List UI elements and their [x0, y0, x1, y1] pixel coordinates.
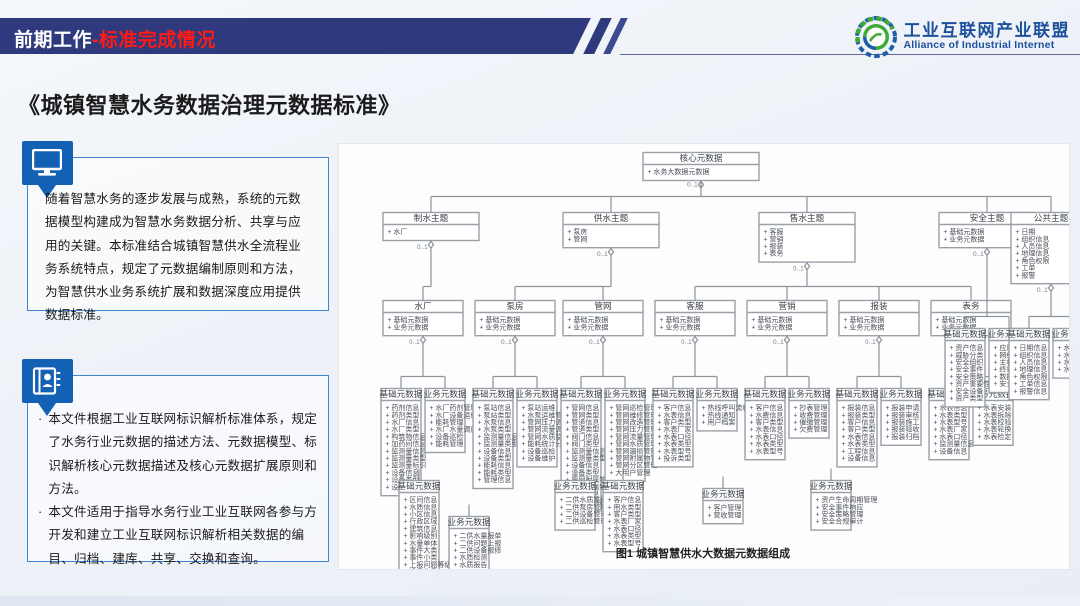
svg-text:+ 报装审核: + 报装审核 — [885, 410, 919, 419]
svg-text:+ 安全事件: + 安全事件 — [949, 365, 983, 374]
svg-text:+ 水厂类型: + 水厂类型 — [385, 425, 419, 434]
svg-text:+ 管网压力管理: + 管网压力管理 — [609, 425, 657, 434]
svg-text:+ 报警: + 报警 — [1015, 270, 1035, 279]
list-item: · 本文件根据工业互联网标识解析标准体系，规定了水务行业元数据的描述方法、元数据… — [38, 408, 320, 501]
svg-text:+ 人员信息: + 人员信息 — [1015, 242, 1049, 251]
svg-text:+ 能耗管理: + 能耗管理 — [429, 439, 463, 448]
svg-text:+ 安全事件响应: + 安全事件响应 — [815, 502, 863, 511]
svg-text:+ 水表类型: + 水表类型 — [657, 439, 691, 448]
svg-text:基础元数据: 基础元数据 — [602, 480, 645, 491]
svg-text:泵房: 泵房 — [506, 300, 523, 311]
gear-logo-icon — [855, 16, 897, 58]
svg-text:+ 水表信息: + 水表信息 — [749, 425, 783, 434]
svg-text:0..1: 0..1 — [793, 266, 804, 273]
svg-text:+ 营销: + 营销 — [763, 234, 783, 243]
svg-text:业务元数据: 业务元数据 — [880, 388, 923, 399]
svg-text:+ 建筑信息: + 建筑信息 — [403, 524, 437, 533]
svg-text:+ 资产类型: + 资产类型 — [949, 394, 983, 403]
svg-text:0..1: 0..1 — [973, 251, 984, 258]
svg-text:+ 客户信息: + 客户信息 — [607, 495, 641, 504]
svg-text:+ 客户类型: + 客户类型 — [657, 418, 691, 427]
svg-text:+ 基础元数据: + 基础元数据 — [751, 315, 792, 324]
logo-text-block: 工业互联网产业联盟 Alliance of Industrial Interne… — [904, 22, 1071, 53]
svg-text:+ 水表型号: + 水表型号 — [749, 446, 783, 455]
svg-text:业务元数据: 业务元数据 — [448, 516, 491, 527]
svg-text:水厂: 水厂 — [414, 300, 432, 311]
svg-text:+ 基础元数据: + 基础元数据 — [843, 315, 884, 324]
svg-text:+ 角色权限: + 角色权限 — [1015, 256, 1049, 265]
svg-text:+ 管网维修管理: + 管网维修管理 — [609, 410, 657, 419]
svg-text:+ 业务元数据: + 业务元数据 — [843, 322, 884, 331]
svg-text:+ 水表口径: + 水表口径 — [607, 524, 641, 533]
svg-text:+ 水表类型: + 水表类型 — [841, 439, 875, 448]
svg-text:+ 客户信息: + 客户信息 — [657, 403, 691, 412]
header-title: 前期工作-标准完成情况 — [14, 25, 216, 52]
logo-text-en: Alliance of Industrial Internet — [904, 39, 1071, 53]
svg-text:0..1: 0..1 — [687, 182, 698, 189]
svg-text:+ 水表检定: + 水表检定 — [977, 432, 1011, 441]
svg-text:+ 基础元数据: + 基础元数据 — [479, 315, 520, 324]
svg-text:基础元数据: 基础元数据 — [560, 388, 603, 399]
svg-text:+ 用水类型: + 用水类型 — [607, 502, 641, 511]
svg-text:基础元数据: 基础元数据 — [1008, 328, 1051, 339]
svg-text:+ 水费信息: + 水费信息 — [749, 410, 783, 419]
svg-text:+ 设备信息: + 设备信息 — [933, 446, 967, 455]
diagram-subject-0: 制水主题+ 水厂 — [383, 212, 479, 240]
svg-text:安全主题: 安全主题 — [970, 212, 1005, 223]
diagram-entity-3: 客服+ 基础元数据+ 业务元数据 — [655, 300, 735, 336]
svg-text:0..1: 0..1 — [1037, 287, 1048, 294]
svg-text:+ 安全策略: + 安全策略 — [949, 372, 983, 381]
svg-text:+ 业务元数据: + 业务元数据 — [387, 322, 428, 331]
svg-text:+ 监测量类型: + 监测量类型 — [477, 439, 518, 448]
svg-text:+ 水务人员管理: + 水务人员管理 — [1057, 350, 1069, 359]
header-title-separator: - — [92, 30, 99, 51]
svg-text:+ 地理信息: + 地理信息 — [1013, 365, 1047, 374]
diagram-entity-2: 管网+ 基础元数据+ 业务元数据 — [563, 300, 643, 336]
monitor-icon — [22, 141, 73, 185]
svg-text:+ 管网信息: + 管网信息 — [565, 403, 599, 412]
diagram-deep-leaf-1: 业务元数据+ 二供水量报单+ 二供问题上报+ 二供设备报修+ 水质检测+ 水质报… — [448, 516, 502, 569]
svg-text:+ 营收管理: + 营收管理 — [707, 510, 741, 519]
svg-text:+ 水表口径: + 水表口径 — [749, 432, 783, 441]
figure-caption: 图1 城镇智慧供水大数据元数据组成 — [338, 545, 1068, 561]
svg-text:业务元数据: 业务元数据 — [516, 388, 559, 399]
svg-text:+ 水表厂家: + 水表厂家 — [607, 517, 641, 526]
svg-text:0..1: 0..1 — [597, 251, 608, 258]
svg-text:+ 管网: + 管网 — [567, 234, 587, 243]
svg-text:表务: 表务 — [962, 300, 980, 311]
svg-text:+ 上报问题等级: + 上报问题等级 — [403, 560, 451, 569]
svg-text:+ 水表型号: + 水表型号 — [933, 418, 967, 427]
svg-text:+ 安全设备: + 安全设备 — [949, 386, 983, 395]
svg-text:+ 水表信息: + 水表信息 — [841, 432, 875, 441]
callout-scope-text: · 本文件根据工业互联网标识解析标准体系，规定了水务行业元数据的描述方法、元数据… — [38, 408, 320, 571]
svg-text:+ 客服: + 客服 — [763, 227, 783, 236]
svg-text:+ 管网流量管理: + 管网流量管理 — [609, 432, 657, 441]
callout-paragraph: 本文件适用于指导水务行业工业互联网各参与方开发和建立工业互联网标识解析相关数据的… — [48, 501, 320, 571]
svg-text:业务元数据: 业务元数据 — [604, 388, 647, 399]
svg-text:+ 资产信息: + 资产信息 — [949, 343, 983, 352]
svg-text:+ 监测量信息: + 监测量信息 — [565, 446, 606, 455]
svg-text:+ 设备类型: + 设备类型 — [477, 454, 511, 463]
svg-text:+ 水表类型: + 水表类型 — [749, 439, 783, 448]
svg-text:客服: 客服 — [686, 300, 704, 311]
svg-text:+ 组织信息: + 组织信息 — [1015, 234, 1049, 243]
svg-text:+ 水厂水量调度: + 水厂水量调度 — [429, 425, 477, 434]
svg-text:0..1: 0..1 — [589, 339, 600, 346]
svg-text:+ 抄表管理: + 抄表管理 — [793, 403, 827, 412]
svg-text:基础元数据: 基础元数据 — [472, 388, 515, 399]
svg-text:+ 人员信息: + 人员信息 — [1013, 358, 1047, 367]
svg-text:+ 水表类型: + 水表类型 — [933, 410, 967, 419]
svg-text:+ 水表信息: + 水表信息 — [657, 410, 691, 419]
svg-text:+ 水泵类型: + 水泵类型 — [477, 425, 511, 434]
diagram-entity-0: 水厂+ 基础元数据+ 业务元数据 — [383, 300, 463, 336]
svg-text:+ 设备维护: + 设备维护 — [521, 454, 555, 463]
svg-text:+ 水表厂家: + 水表厂家 — [657, 425, 691, 434]
svg-text:+ 管网漏损管理: + 管网漏损管理 — [609, 446, 657, 455]
svg-text:+ 水务报警管理: + 水务报警管理 — [1057, 365, 1069, 374]
svg-text:+ 构筑物信息: + 构筑物信息 — [385, 432, 426, 441]
svg-text:+ 水质报告: + 水质报告 — [453, 560, 487, 569]
svg-text:+ 客户信息: + 客户信息 — [841, 418, 875, 427]
metadata-uml-diagram: 核心元数据+ 水务大数据元数据制水主题+ 水厂供水主题+ 泵房+ 管网售水主题+… — [339, 144, 1069, 569]
callout-paragraph: 随着智慧水务的逐步发展与成熟，系统的元数据模型构建成为智慧水务数据分析、共享与应… — [45, 188, 313, 328]
svg-text:+ 基础元数据: + 基础元数据 — [943, 227, 984, 236]
svg-text:+ 客户类型: + 客户类型 — [749, 418, 783, 427]
svg-text:+ 二供水质监测: + 二供水质监测 — [559, 495, 607, 504]
diagram-panel: 核心元数据+ 水务大数据元数据制水主题+ 水厂供水主题+ 泵房+ 管网售水主题+… — [338, 143, 1070, 570]
svg-text:+ 管网改造管理: + 管网改造管理 — [609, 418, 657, 427]
svg-text:+ 业务元数据: + 业务元数据 — [751, 322, 792, 331]
svg-text:+ 日期: + 日期 — [1015, 228, 1035, 236]
svg-text:+ 水厂信息: + 水厂信息 — [385, 418, 419, 427]
svg-text:+ 影响级别: + 影响级别 — [403, 531, 437, 540]
svg-text:+ 热线呼叫流程: + 热线呼叫流程 — [701, 403, 749, 412]
svg-text:0..1: 0..1 — [773, 339, 784, 346]
svg-text:基础元数据: 基础元数据 — [744, 388, 787, 399]
svg-text:+ 报警信息: + 报警信息 — [1013, 386, 1047, 395]
diagram-leaf-biz-5: 业务元数据+ 报装申请+ 报装审核+ 报装施工+ 报装验收+ 报装归档 — [880, 388, 923, 445]
svg-text:管网: 管网 — [594, 300, 611, 311]
svg-text:+ 水表厂家: + 水表厂家 — [933, 425, 967, 434]
svg-text:0..1: 0..1 — [417, 244, 428, 251]
diagram-leaf-base-5: 基础元数据+ 报装信息+ 报装类型+ 客户信息+ 客户类型+ 水表信息+ 水表类… — [836, 388, 879, 467]
svg-text:+ 水务公共服务: + 水务公共服务 — [1057, 343, 1069, 352]
svg-text:+ 二供设备管理: + 二供设备管理 — [559, 510, 607, 519]
svg-text:+ 监测量信息: + 监测量信息 — [385, 446, 426, 455]
header-title-highlight: 标准完成情况 — [99, 30, 216, 51]
svg-text:+ 水表型号: + 水表型号 — [657, 446, 691, 455]
svg-text:+ 管理信息: + 管理信息 — [477, 475, 511, 484]
svg-text:+ 威胁分类: + 威胁分类 — [949, 350, 983, 359]
svg-text:+ 设备巡检: + 设备巡检 — [521, 446, 555, 455]
svg-text:+ 报装验收: + 报装验收 — [885, 425, 919, 434]
diagram-leaf-biz-3: 业务元数据+ 热线呼叫流程+ 热线通知+ 用户档案 — [696, 388, 750, 431]
svg-text:+ 业务元数据: + 业务元数据 — [943, 234, 984, 243]
svg-text:售水主题: 售水主题 — [790, 212, 825, 223]
svg-text:公共主题: 公共主题 — [1034, 212, 1069, 223]
diagram-deep-leaf-4: 业务元数据+ 客户管理+ 营收管理 — [702, 488, 745, 524]
diagram-subject-2: 售水主题+ 客服+ 营销+ 报装+ 表务 — [759, 212, 855, 262]
svg-text:+ 基础元数据: + 基础元数据 — [659, 315, 700, 324]
svg-text:+ 工单: + 工单 — [1015, 263, 1035, 272]
svg-text:+ 催缴管理: + 催缴管理 — [793, 418, 827, 427]
svg-text:+ 设备信息: + 设备信息 — [477, 446, 511, 455]
svg-text:基础元数据: 基础元数据 — [398, 480, 441, 491]
svg-text:+ 安全组织: + 安全组织 — [949, 358, 983, 367]
svg-text:+ 泵站运维: + 泵站运维 — [521, 403, 555, 412]
svg-text:报装: 报装 — [870, 300, 888, 311]
svg-text:0..1: 0..1 — [865, 339, 876, 346]
diagram-deep-leaf-5: 业务元数据+ 资产生命周期管理+ 安全事件响应+ 安全策略管理+ 安全合规审计 — [810, 480, 878, 530]
diagram-leaf-base-3: 基础元数据+ 客户信息+ 水表信息+ 客户类型+ 水表厂家+ 水表口径+ 水表类… — [652, 388, 695, 467]
svg-text:0..1: 0..1 — [681, 339, 692, 346]
organization-logo: 工业互联网产业联盟 Alliance of Industrial Interne… — [855, 16, 1071, 58]
svg-text:+ 二供水量报单: + 二供水量报单 — [453, 531, 501, 540]
svg-text:+ 药剂信息: + 药剂信息 — [385, 403, 419, 412]
diagram-leaf-biz-4: 业务元数据+ 抄表管理+ 收费管理+ 催缴管理+ 欠费管理 — [788, 388, 831, 438]
svg-text:+ 设备信息: + 设备信息 — [565, 461, 599, 470]
svg-text:+ 管网分区管理: + 管网分区管理 — [609, 461, 657, 470]
diagram-root-node: 核心元数据+ 水务大数据元数据 — [643, 152, 759, 180]
svg-text:业务元数据: 业务元数据 — [424, 388, 467, 399]
svg-text:+ 热线通知: + 热线通知 — [701, 410, 735, 419]
svg-text:0..1: 0..1 — [501, 339, 512, 346]
svg-text:+ 监测量信息: + 监测量信息 — [933, 439, 974, 448]
svg-text:+ 水表类型: + 水表类型 — [607, 531, 641, 540]
svg-text:+ 安全合规审计: + 安全合规审计 — [815, 517, 863, 526]
svg-text:+ 报装申请: + 报装申请 — [885, 403, 919, 412]
svg-text:+ 水厂: + 水厂 — [387, 227, 407, 236]
callout-overview-text: 随着智慧水务的逐步发展与成熟，系统的元数据模型构建成为智慧水务数据分析、共享与应… — [45, 188, 313, 328]
svg-text:+ 设备信息: + 设备信息 — [385, 468, 419, 477]
svg-text:+ 用户档案: + 用户档案 — [701, 418, 735, 427]
svg-text:+ 安全策略管理: + 安全策略管理 — [815, 510, 863, 519]
svg-text:+ 工单信息: + 工单信息 — [1013, 379, 1047, 388]
svg-text:业务元数据: 业务元数据 — [810, 480, 853, 491]
svg-text:+ 报装信息: + 报装信息 — [841, 403, 875, 412]
svg-text:+ 组织信息: + 组织信息 — [1013, 350, 1047, 359]
svg-text:营销: 营销 — [778, 300, 796, 311]
diagram-entity-5: 报装+ 基础元数据+ 业务元数据 — [839, 300, 919, 336]
svg-text:+ 基础元数据: + 基础元数据 — [567, 315, 608, 324]
bullet-icon: · — [38, 501, 42, 524]
svg-text:+ 监测量信息: + 监测量信息 — [477, 432, 518, 441]
diagram-entity-1: 泵房+ 基础元数据+ 业务元数据 — [475, 300, 555, 336]
svg-text:+ 加药间信息: + 加药间信息 — [385, 439, 426, 448]
svg-text:+ 水厂药剂管理: + 水厂药剂管理 — [429, 403, 477, 412]
svg-text:+ 客户信息: + 客户信息 — [749, 403, 783, 412]
svg-text:+ 设备巡检: + 设备巡检 — [429, 432, 463, 441]
svg-text:+ 区间信息: + 区间信息 — [403, 495, 437, 504]
svg-text:+ 报装施工: + 报装施工 — [885, 418, 919, 427]
svg-text:+ 管道信息: + 管道信息 — [565, 418, 599, 427]
svg-text:+ 泵房: + 泵房 — [567, 227, 587, 236]
svg-text:+ 水表口径: + 水表口径 — [657, 432, 691, 441]
svg-text:+ 能耗管理: + 能耗管理 — [429, 418, 463, 427]
header-title-primary: 前期工作 — [14, 30, 92, 51]
diagram-subject-4: 公共主题+ 日期+ 组织信息+ 人员信息+ 地理信息+ 角色权限+ 工单+ 报警 — [1011, 212, 1069, 284]
bullet-icon: · — [38, 408, 42, 431]
svg-text:+ 水表校验: + 水表校验 — [977, 418, 1011, 427]
svg-text:+ 泵站类型: + 泵站类型 — [477, 410, 511, 419]
diagram-subject-1: 供水主题+ 泵房+ 管网 — [563, 212, 659, 248]
svg-text:+ 管网巡检管理: + 管网巡检管理 — [609, 403, 657, 412]
svg-text:核心元数据: 核心元数据 — [680, 152, 723, 163]
diagram-leaf-base-4: 基础元数据+ 客户信息+ 水费信息+ 客户类型+ 水表信息+ 水表口径+ 水表类… — [744, 388, 787, 460]
svg-text:+ 水厂设备运维: + 水厂设备运维 — [429, 410, 477, 419]
svg-text:+ 资产重要性: + 资产重要性 — [949, 379, 990, 388]
svg-text:基础元数据: 基础元数据 — [652, 388, 695, 399]
svg-text:制水主题: 制水主题 — [414, 212, 449, 223]
svg-text:+ 水表拆除: + 水表拆除 — [977, 410, 1011, 419]
svg-text:+ 水表轮换: + 水表轮换 — [977, 425, 1011, 434]
svg-text:+ 收费管理: + 收费管理 — [793, 410, 827, 419]
diagram-subject-leaf-base-1: 基础元数据+ 日期信息+ 组织信息+ 人员信息+ 地理信息+ 角色权限+ 工单信… — [1008, 328, 1051, 400]
svg-text:+ 水泵信息: + 水泵信息 — [477, 418, 511, 427]
svg-text:+ 水表口径: + 水表口径 — [933, 432, 967, 441]
svg-text:+ 监测量标识: + 监测量标识 — [385, 461, 426, 470]
svg-text:0..1: 0..1 — [409, 339, 420, 346]
svg-text:业务元数据: 业务元数据 — [554, 480, 597, 491]
callout-paragraph: 本文件根据工业互联网标识解析标准体系，规定了水务行业元数据的描述方法、元数据模型… — [48, 408, 320, 501]
svg-text:+ 能耗类型: + 能耗类型 — [477, 468, 511, 477]
svg-text:+ 小区信息: + 小区信息 — [403, 510, 437, 519]
svg-text:+ 阀门类型: + 阀门类型 — [565, 439, 599, 448]
svg-text:业务元数据: 业务元数据 — [696, 388, 739, 399]
svg-text:基础元数据: 基础元数据 — [944, 328, 987, 339]
svg-text:业务元数据: 业务元数据 — [788, 388, 831, 399]
svg-text:+ 二供泵房管理: + 二供泵房管理 — [559, 502, 607, 511]
svg-text:+ 行政区域: + 行政区域 — [403, 517, 437, 526]
svg-text:+ 地理信息: + 地理信息 — [1015, 249, 1049, 258]
diagram-deep-leaf-3: 基础元数据+ 客户信息+ 用水类型+ 客户类型+ 水表厂家+ 水表口径+ 水表类… — [602, 480, 645, 552]
svg-text:+ 业务元数据: + 业务元数据 — [567, 322, 608, 331]
svg-text:基础元数据: 基础元数据 — [836, 388, 879, 399]
svg-text:+ 客户类型: + 客户类型 — [841, 425, 875, 434]
svg-text:+ 业务元数据: + 业务元数据 — [659, 322, 700, 331]
diagram-subject-leaf-base-0: 基础元数据+ 资产信息+ 威胁分类+ 安全组织+ 安全事件+ 安全策略+ 资产重… — [944, 328, 991, 407]
svg-text:+ 投诉类型: + 投诉类型 — [657, 454, 691, 463]
svg-text:+ 水质信息: + 水质信息 — [403, 502, 437, 511]
svg-text:+ 报装归档: + 报装归档 — [885, 432, 919, 441]
diagram-entity-4: 营销+ 基础元数据+ 业务元数据 — [747, 300, 827, 336]
svg-text:+ 监测量类型: + 监测量类型 — [565, 454, 606, 463]
logo-text-cn: 工业互联网产业联盟 — [904, 22, 1071, 39]
svg-text:+ 管网水质管理: + 管网水质管理 — [609, 439, 657, 448]
svg-text:+ 管道类型: + 管道类型 — [565, 425, 599, 434]
svg-text:+ 资产生命周期管理: + 资产生命周期管理 — [815, 495, 877, 504]
svg-text:+ 欠费管理: + 欠费管理 — [793, 425, 827, 434]
svg-text:+ 工程信息: + 工程信息 — [841, 446, 875, 455]
svg-text:供水主题: 供水主题 — [594, 212, 629, 223]
svg-text:+ 业务元数据: + 业务元数据 — [479, 322, 520, 331]
svg-text:+ 报装: + 报装 — [763, 242, 783, 251]
svg-text:+ 设备类型: + 设备类型 — [565, 468, 599, 477]
svg-text:+ 角色权限: + 角色权限 — [1013, 372, 1047, 381]
svg-text:+ 客户类型: + 客户类型 — [607, 510, 641, 519]
svg-text:+ 管网类型: + 管网类型 — [565, 410, 599, 419]
svg-text:+ 水务大数据元数据: + 水务大数据元数据 — [647, 167, 709, 176]
diagram-subject-leaf-biz-1: 业务元数据+ 水务公共服务+ 水务人员管理+ 水务工单管理+ 水务报警管理 — [1052, 328, 1069, 378]
svg-text:业务元数据: 业务元数据 — [1052, 328, 1069, 339]
svg-text:+ 能耗信息: + 能耗信息 — [477, 461, 511, 470]
footer-strip — [0, 596, 1080, 606]
svg-text:+ 表务: + 表务 — [763, 249, 783, 258]
svg-text:+ 二供巡检管理: + 二供巡检管理 — [559, 517, 607, 526]
svg-text:+ 大用户管理: + 大用户管理 — [609, 468, 650, 477]
list-item: · 本文件适用于指导水务行业工业互联网各参与方开发和建立工业互联网标识解析相关数… — [38, 501, 320, 571]
svg-text:+ 监测量类型: + 监测量类型 — [385, 454, 426, 463]
svg-text:+ 药剂类型: + 药剂类型 — [385, 410, 419, 419]
svg-text:+ 基础元数据: + 基础元数据 — [387, 315, 428, 324]
svg-text:+ 客户管理: + 客户管理 — [707, 503, 741, 512]
svg-text:+ 日期信息: + 日期信息 — [1013, 343, 1047, 352]
svg-text:+ 报装类型: + 报装类型 — [841, 410, 875, 419]
svg-text:+ 水务工单管理: + 水务工单管理 — [1057, 358, 1069, 367]
diagram-leaf-biz-0: 业务元数据+ 水厂药剂管理+ 水厂设备运维+ 能耗管理+ 水厂水量调度+ 设备巡… — [424, 388, 478, 452]
svg-text:+ 泵站信息: + 泵站信息 — [477, 403, 511, 412]
svg-text:+ 设备信息: + 设备信息 — [841, 454, 875, 463]
diagram-leaf-base-1: 基础元数据+ 泵站信息+ 泵站类型+ 水泵信息+ 水泵类型+ 监测量信息+ 监测… — [472, 388, 519, 488]
svg-text:+ 阀门信息: + 阀门信息 — [565, 432, 599, 441]
svg-text:业务元数据: 业务元数据 — [702, 488, 745, 499]
svg-text:基础元数据: 基础元数据 — [380, 388, 423, 399]
page-title: 《城镇智慧水务数据治理元数据标准》 — [18, 88, 401, 120]
contact-book-icon — [22, 359, 73, 403]
